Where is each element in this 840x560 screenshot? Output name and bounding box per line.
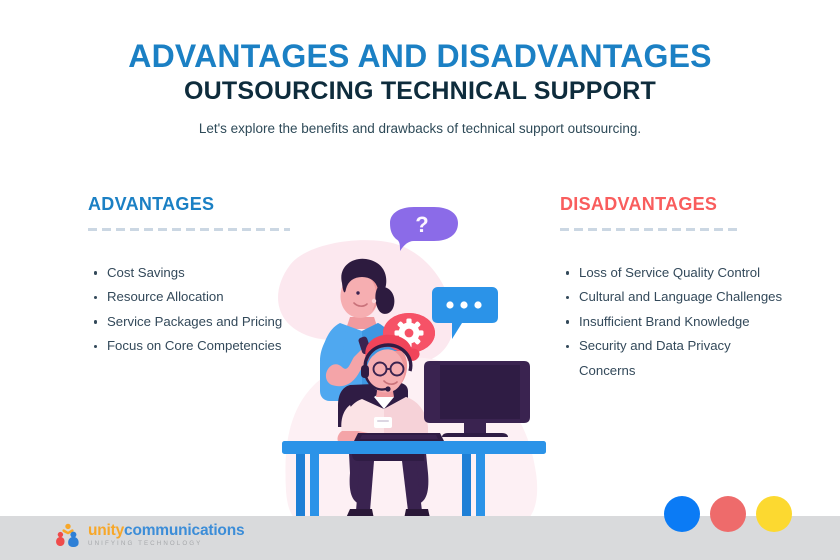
list-item: Service Packages and Pricing [88, 310, 298, 335]
svg-text:?: ? [415, 212, 428, 237]
advantages-divider [88, 228, 290, 231]
infographic-canvas: ADVANTAGES AND DISADVANTAGES OUTSOURCING… [0, 0, 840, 560]
page-subtitle: OUTSOURCING TECHNICAL SUPPORT [0, 79, 840, 104]
decorative-dot-yellow [756, 496, 792, 532]
list-item: Cultural and Language Challenges [560, 285, 790, 310]
customer-support-illustration: ? [262, 205, 562, 535]
brand-logo[interactable]: unitycommunications UNIFYING TECHNOLOGY [55, 522, 244, 548]
page-tagline: Let's explore the benefits and drawbacks… [0, 121, 840, 137]
question-speech-bubble-icon: ? [390, 207, 458, 251]
disadvantages-divider [560, 228, 742, 231]
advantages-list: Cost Savings Resource Allocation Service… [88, 261, 298, 359]
page-title: ADVANTAGES AND DISADVANTAGES [0, 40, 840, 72]
decorative-dot-coral [710, 496, 746, 532]
advantages-heading: ADVANTAGES [88, 195, 298, 215]
advantages-column: ADVANTAGES Cost Savings Resource Allocat… [88, 195, 298, 359]
decorative-dot-blue [664, 496, 700, 532]
list-item: Focus on Core Competencies [88, 334, 298, 359]
logo-word-unity: unity [88, 522, 124, 539]
logo-wordmark: unitycommunications [88, 522, 244, 539]
decorative-dots [664, 496, 792, 532]
logo-text: unitycommunications UNIFYING TECHNOLOGY [88, 523, 244, 547]
logo-word-communications: communications [124, 522, 244, 539]
disadvantages-column: DISADVANTAGES Loss of Service Quality Co… [560, 195, 790, 383]
disadvantages-heading: DISADVANTAGES [560, 195, 790, 215]
list-item: Loss of Service Quality Control [560, 261, 790, 286]
people-group-icon [55, 523, 81, 547]
disadvantages-list: Loss of Service Quality Control Cultural… [560, 261, 790, 384]
logo-tagline: UNIFYING TECHNOLOGY [88, 541, 244, 547]
list-item: Security and Data Privacy Concerns [560, 334, 790, 383]
list-item: Cost Savings [88, 261, 298, 286]
list-item: Resource Allocation [88, 285, 298, 310]
list-item: Insufficient Brand Knowledge [560, 310, 790, 335]
